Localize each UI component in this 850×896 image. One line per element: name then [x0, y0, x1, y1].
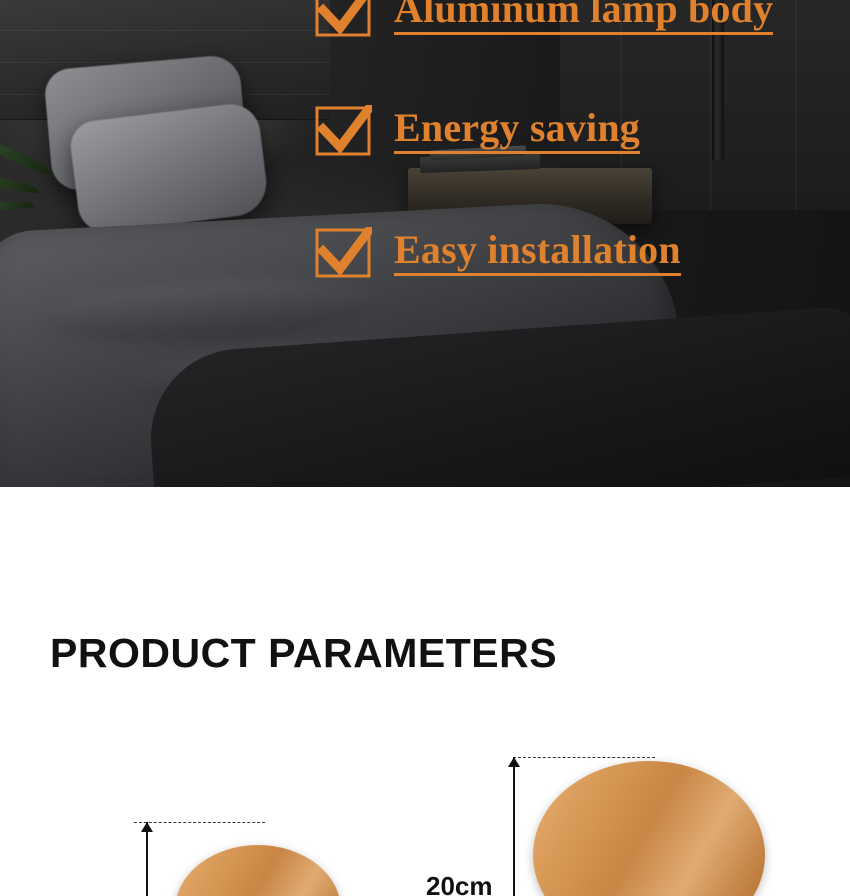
pillow-front — [68, 101, 270, 235]
dimension-guide-small — [134, 822, 265, 823]
lamp-disc-small — [175, 845, 341, 896]
dimension-line-large — [513, 757, 515, 896]
dimension-line-small — [146, 822, 148, 896]
dimension-guide-large — [513, 757, 655, 758]
dimension-arrow-large — [508, 757, 520, 767]
feature-item-1: Energy saving — [314, 105, 640, 157]
dimension-arrow-small — [141, 822, 153, 832]
page-title: PRODUCT PARAMETERS — [50, 630, 557, 677]
lamp-disc-large — [533, 761, 765, 896]
checkmark-icon — [314, 0, 372, 38]
checkmark-icon — [314, 105, 372, 157]
product-detail-page: Aluminum lamp body Energy saving Easy in… — [0, 0, 850, 896]
feature-label-0: Aluminum lamp body — [394, 0, 773, 35]
feature-item-2: Easy installation — [314, 227, 681, 279]
checkmark-icon — [314, 227, 372, 279]
feature-item-0: Aluminum lamp body — [314, 0, 773, 38]
dimension-label-20cm: 20cm — [426, 871, 493, 896]
feature-label-1: Energy saving — [394, 108, 640, 154]
feature-label-2: Easy installation — [394, 230, 681, 276]
